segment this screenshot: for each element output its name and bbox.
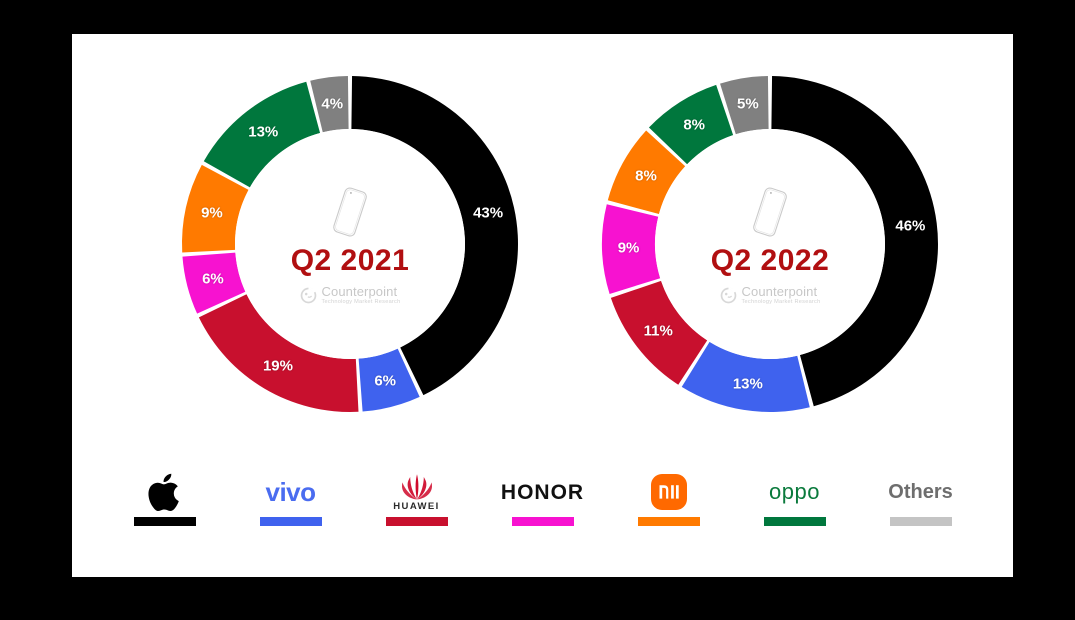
donut-slice-honor[interactable] <box>602 204 660 294</box>
oppo-logo-wrap: oppo <box>769 470 820 514</box>
legend-swatch-xiaomi <box>638 517 700 526</box>
legend-swatch-oppo <box>764 517 826 526</box>
donut-ring-1 <box>570 44 970 444</box>
donut-slice-huawei[interactable] <box>199 294 359 412</box>
chart-legend: vivo <box>72 470 1013 560</box>
legend-swatch-huawei <box>386 517 448 526</box>
donut-chart-q2-2021: Q2 2021 Counterpoint Technology Market R… <box>150 44 550 444</box>
huawei-logo-wrap: HUAWEI <box>393 470 439 514</box>
vivo-logo-wrap: vivo <box>265 470 315 514</box>
donut-slice-oppo[interactable] <box>204 82 320 188</box>
vivo-wordmark: vivo <box>265 479 315 505</box>
honor-logo-wrap: HONOR <box>501 470 584 514</box>
legend-swatch-others <box>890 517 952 526</box>
oppo-wordmark: oppo <box>769 481 820 503</box>
legend-swatch-apple <box>134 517 196 526</box>
honor-wordmark: HONOR <box>501 482 584 503</box>
legend-item-honor[interactable]: HONOR <box>500 470 586 526</box>
huawei-wordmark: HUAWEI <box>393 501 439 512</box>
legend-item-oppo[interactable]: oppo <box>752 470 838 526</box>
donut-slice-apple[interactable] <box>351 76 518 395</box>
xiaomi-logo-wrap <box>651 470 687 514</box>
screenshot-root: Q2 2021 Counterpoint Technology Market R… <box>0 0 1075 620</box>
huawei-logo-icon <box>397 473 437 500</box>
mi-glyph-icon <box>658 483 680 501</box>
donut-ring-0 <box>150 44 550 444</box>
xiaomi-mi-logo-icon <box>651 474 687 510</box>
donut-charts-row: Q2 2021 Counterpoint Technology Market R… <box>72 34 1013 466</box>
others-label-wrap: Others <box>888 470 952 514</box>
legend-item-xiaomi[interactable] <box>626 470 712 526</box>
legend-item-apple[interactable] <box>122 470 208 526</box>
legend-swatch-honor <box>512 517 574 526</box>
donut-slice-vivo[interactable] <box>682 342 810 412</box>
donut-svg-1 <box>570 44 970 444</box>
donut-svg-0 <box>150 44 550 444</box>
apple-logo-wrap <box>148 470 182 514</box>
legend-item-others[interactable]: Others <box>878 470 964 526</box>
others-label: Others <box>888 482 952 502</box>
legend-swatch-vivo <box>260 517 322 526</box>
chart-card: Q2 2021 Counterpoint Technology Market R… <box>72 34 1013 577</box>
apple-logo-icon <box>148 471 182 513</box>
donut-chart-q2-2022: Q2 2022 Counterpoint Technology Market R… <box>570 44 970 444</box>
legend-item-huawei[interactable]: HUAWEI <box>374 470 460 526</box>
legend-item-vivo[interactable]: vivo <box>248 470 334 526</box>
